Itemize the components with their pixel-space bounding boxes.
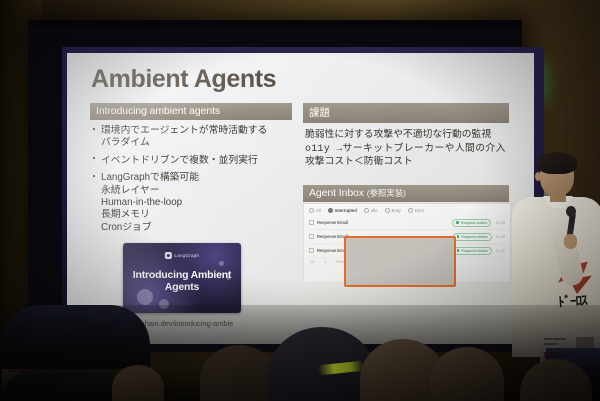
scene-vignette	[0, 0, 600, 401]
presentation-photo-scene: Ambient Agents Introducing ambient agent…	[0, 0, 600, 401]
